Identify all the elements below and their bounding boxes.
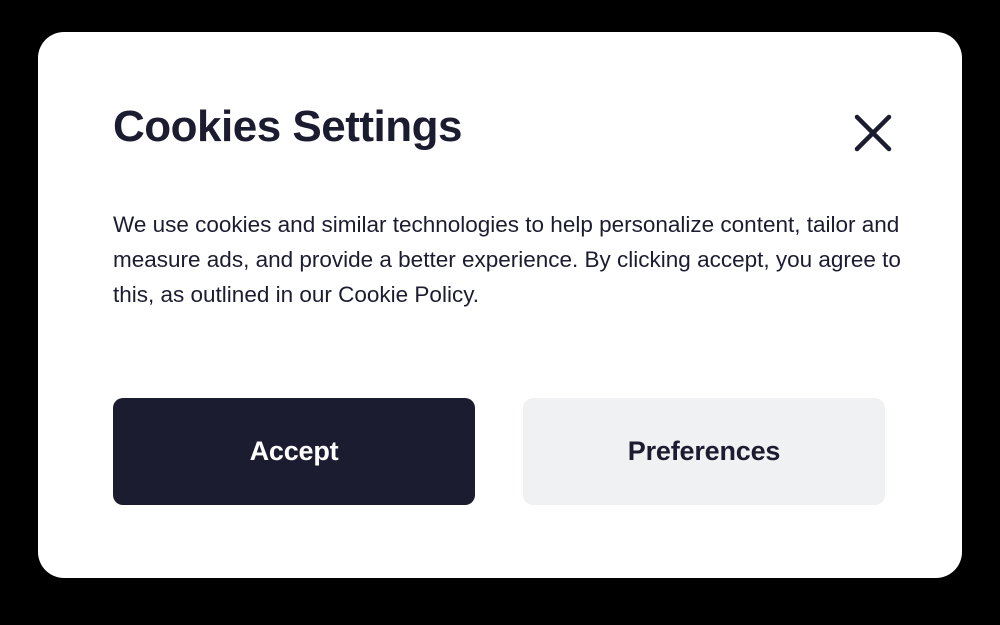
close-icon bbox=[852, 112, 894, 154]
cookies-settings-dialog: Cookies Settings We use cookies and simi… bbox=[38, 32, 962, 578]
dialog-description: We use cookies and similar technologies … bbox=[113, 207, 903, 312]
close-button[interactable] bbox=[846, 106, 900, 160]
dialog-actions: Accept Preferences bbox=[113, 398, 885, 505]
dialog-header: Cookies Settings bbox=[113, 104, 902, 160]
preferences-button[interactable]: Preferences bbox=[523, 398, 885, 505]
screen-background: Cookies Settings We use cookies and simi… bbox=[0, 0, 1000, 625]
page-title: Cookies Settings bbox=[113, 104, 462, 150]
accept-button[interactable]: Accept bbox=[113, 398, 475, 505]
